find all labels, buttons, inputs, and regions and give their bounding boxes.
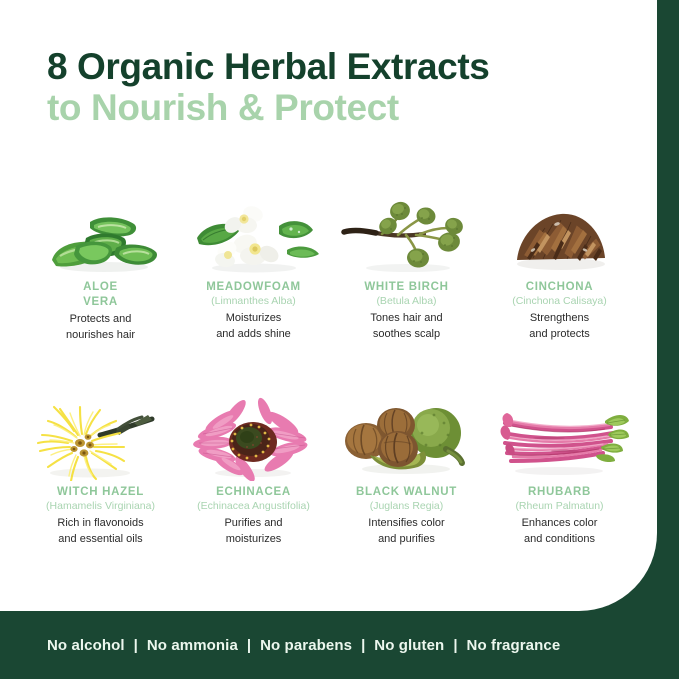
claim-separator: |	[125, 637, 147, 654]
herb-card-white-birch: WHITE BIRCH (Betula Alba) Tones hair and…	[330, 188, 483, 393]
herb-name: RHUBARB	[528, 485, 591, 500]
white-birch-illustration	[336, 188, 478, 276]
herb-grid: ALOE VERA Protects and nourishes hair	[24, 188, 636, 598]
herb-desc-line1: Moisturizes	[226, 312, 282, 324]
herb-card-meadowfoam: MEADOWFOAM (Limnanthes Alba) Moisturizes…	[177, 188, 330, 393]
cinchona-illustration	[489, 188, 631, 276]
herb-name: WITCH HAZEL	[57, 485, 144, 500]
claim-separator: |	[238, 637, 260, 654]
witch-hazel-illustration	[30, 393, 172, 481]
herb-desc-line2: and essential oils	[58, 533, 142, 545]
claim-no-alcohol: No alcohol	[47, 637, 125, 654]
herb-name: CINCHONA	[526, 280, 594, 295]
herb-description: Rich in flavonoids and essential oils	[57, 516, 143, 547]
herb-desc-line1: Purifies and	[224, 517, 282, 529]
herb-description: Purifies and moisturizes	[224, 516, 282, 547]
herb-latin-name: (Rheum Palmatun)	[515, 500, 603, 514]
right-green-bar	[657, 0, 679, 679]
herb-description: Intensifies color and purifies	[368, 516, 444, 547]
herb-name: MEADOWFOAM	[206, 280, 301, 295]
herb-card-echinacea: ECHINACEA (Echinacea Angustifolia) Purif…	[177, 393, 330, 598]
echinacea-illustration	[183, 393, 325, 481]
herb-latin-name: (Limnanthes Alba)	[211, 295, 296, 309]
herb-desc-line1: Intensifies color	[368, 517, 444, 529]
herb-name-line1: ALOE	[83, 281, 118, 293]
herb-desc-line2: nourishes hair	[66, 329, 135, 341]
herb-card-rhubarb: RHUBARB (Rheum Palmatun) Enhances color …	[483, 393, 636, 598]
claim-separator: |	[352, 637, 374, 654]
herb-desc-line1: Protects and	[70, 313, 132, 325]
aloe-vera-illustration	[30, 188, 172, 276]
herb-desc-line2: and protects	[529, 328, 590, 340]
herb-name: ALOE VERA	[83, 280, 118, 309]
herb-name: WHITE BIRCH	[364, 280, 448, 295]
herb-latin-name: (Cinchona Calisaya)	[512, 295, 607, 309]
herb-desc-line2: and conditions	[524, 533, 595, 545]
herb-desc-line2: and adds shine	[216, 328, 291, 340]
herbal-extracts-infographic: 8 Organic Herbal Extracts to Nourish & P…	[0, 0, 679, 679]
herb-desc-line2: soothes scalp	[373, 328, 440, 340]
herb-name: ECHINACEA	[216, 485, 291, 500]
herb-desc-line1: Rich in flavonoids	[57, 517, 143, 529]
meadowfoam-illustration	[183, 188, 325, 276]
herb-card-cinchona: CINCHONA (Cinchona Calisaya) Strengthens…	[483, 188, 636, 393]
page-title: 8 Organic Herbal Extracts to Nourish & P…	[47, 46, 627, 129]
herb-desc-line2: moisturizes	[226, 533, 282, 545]
claim-no-gluten: No gluten	[374, 637, 444, 654]
herb-name-line2: VERA	[83, 296, 118, 308]
herb-latin-name: (Hamamelis Virginiana)	[46, 500, 155, 514]
title-line-secondary: to Nourish & Protect	[47, 87, 627, 128]
herb-desc-line1: Strengthens	[530, 312, 589, 324]
claim-separator: |	[444, 637, 466, 654]
claims-bar: No alcohol | No ammonia | No parabens | …	[0, 611, 679, 679]
herb-desc-line1: Tones hair and	[370, 312, 442, 324]
title-line-primary: 8 Organic Herbal Extracts	[47, 46, 627, 87]
black-walnut-illustration	[336, 393, 478, 481]
herb-description: Protects and nourishes hair	[66, 312, 135, 343]
herb-latin-name: (Echinacea Angustifolia)	[197, 500, 310, 514]
herb-desc-line2: and purifies	[378, 533, 435, 545]
herb-description: Strengthens and protects	[529, 311, 590, 342]
claim-no-fragrance: No fragrance	[467, 637, 561, 654]
herb-description: Moisturizes and adds shine	[216, 311, 291, 342]
herb-name: BLACK WALNUT	[356, 485, 457, 500]
claim-no-parabens: No parabens	[260, 637, 352, 654]
herb-card-aloe-vera: ALOE VERA Protects and nourishes hair	[24, 188, 177, 393]
herb-latin-name: (Betula Alba)	[376, 295, 436, 309]
herb-description: Tones hair and soothes scalp	[370, 311, 442, 342]
herb-desc-line1: Enhances color	[522, 517, 598, 529]
herb-latin-name: (Juglans Regia)	[370, 500, 444, 514]
herb-card-black-walnut: BLACK WALNUT (Juglans Regia) Intensifies…	[330, 393, 483, 598]
rhubarb-illustration	[489, 393, 631, 481]
claim-no-ammonia: No ammonia	[147, 637, 238, 654]
herb-description: Enhances color and conditions	[522, 516, 598, 547]
herb-card-witch-hazel: WITCH HAZEL (Hamamelis Virginiana) Rich …	[24, 393, 177, 598]
